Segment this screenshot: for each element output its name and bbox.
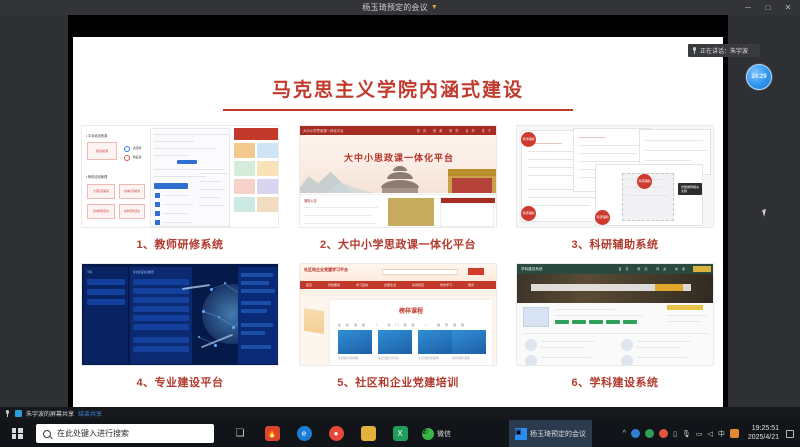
taskbar-apps: ❏ 🔥 e ● X ✆ 微信 ▣ 杨玉琦预定的会议 bbox=[224, 420, 592, 447]
notification-dot-icon[interactable] bbox=[659, 429, 668, 438]
t1-box-4: 校外研修活动 bbox=[120, 209, 144, 213]
t1-section-a: 平台培训资源 bbox=[88, 134, 107, 138]
system-tray: ^ ▯ 🎙 ▭ ◁ 中 19:25:51 2025/4/21 bbox=[623, 420, 800, 447]
slide-title: 马克思主义学院内涵式建设 bbox=[73, 75, 723, 102]
presentation-slide: 马克思主义学院内涵式建设 • 平台培训资源 培训资源 资源库 bbox=[73, 37, 723, 409]
meeting-window: 杨玉琦预定的会议 ▼ ─ □ ✕ 马克思主义学院内涵式建设 • 平台培训资源 培… bbox=[0, 0, 800, 420]
app-icon-meeting[interactable]: ▣ 杨玉琦预定的会议 bbox=[509, 420, 592, 447]
search-placeholder: 在此处键入进行搜索 bbox=[57, 428, 129, 439]
t2-col-left: 通知公告 bbox=[304, 198, 317, 203]
t6-site-name: 学科建设系统 bbox=[521, 267, 543, 272]
meeting-icon: ▣ bbox=[515, 428, 527, 440]
t5-search-input[interactable] bbox=[382, 269, 458, 275]
keyboard-icon[interactable]: ▭ bbox=[696, 430, 703, 438]
grid-item-2: 大中小学思政课一体化平台 首页 资源 研究 合作 关于 bbox=[299, 125, 497, 252]
app-icon-edge[interactable]: e bbox=[288, 420, 320, 447]
edge-icon: e bbox=[297, 426, 312, 441]
mic-tray-icon[interactable]: 🎙 bbox=[682, 430, 691, 438]
t2-site-name: 大中小学思政课一体化平台 bbox=[303, 128, 344, 133]
caption-1: 1、教师研修系统 bbox=[81, 236, 279, 252]
screen-share-status-bar: 朱宇波的屏幕共享 结束共享 bbox=[0, 407, 800, 420]
t1-box-2: 校本培训资源 bbox=[120, 189, 144, 193]
clock[interactable]: 19:25:51 2025/4/21 bbox=[748, 425, 779, 441]
t6-nav: 首页 概况 师资 成果 bbox=[618, 267, 689, 271]
t3-badge-3: 科研辅助 bbox=[595, 210, 610, 225]
start-button[interactable] bbox=[0, 420, 34, 447]
minimize-button[interactable]: ─ bbox=[738, 0, 758, 15]
grid-item-4: 学科 专业建设知识图谱 bbox=[81, 263, 279, 390]
flag-illustration bbox=[304, 308, 324, 334]
thumbnail-ideology-platform[interactable]: 大中小学思政课一体化平台 首页 资源 研究 合作 关于 bbox=[299, 125, 497, 228]
maximize-button[interactable]: □ bbox=[758, 0, 778, 15]
t3-badge-2: 科研辅助 bbox=[521, 206, 536, 221]
thumbnail-grid: • 平台培训资源 培训资源 资源库 精品课 • 研修活动管理 全国培训资源 bbox=[79, 125, 717, 403]
t5-site-name: 社区和企业党建学习平台 bbox=[304, 267, 348, 273]
app-tray-icon[interactable] bbox=[730, 429, 739, 438]
app-icon-firefox[interactable]: 🔥 bbox=[256, 420, 288, 447]
close-button[interactable]: ✕ bbox=[778, 0, 798, 15]
search-icon bbox=[43, 430, 51, 438]
wechat-icon: ✆ bbox=[422, 428, 434, 440]
clock-time: 19:25:51 bbox=[748, 425, 779, 433]
share-status-text: 朱宇波的屏幕共享 bbox=[26, 409, 74, 418]
battery-icon[interactable]: ▯ bbox=[673, 430, 677, 438]
caption-4: 4、专业建设平台 bbox=[81, 374, 279, 390]
ime-icon[interactable]: 中 bbox=[718, 429, 725, 439]
stop-share-link[interactable]: 结束共享 bbox=[78, 409, 102, 418]
title-underline bbox=[223, 109, 573, 111]
excel-icon: X bbox=[393, 426, 408, 441]
window-controls: ─ □ ✕ bbox=[738, 0, 798, 15]
shared-screen-stage: 马克思主义学院内涵式建设 • 平台培训资源 培训资源 资源库 bbox=[68, 15, 728, 411]
microphone-icon[interactable] bbox=[4, 410, 11, 417]
t1-box-3: 校内研修活动 bbox=[88, 209, 114, 213]
chevron-down-icon[interactable]: ▼ bbox=[431, 4, 438, 11]
grid-item-5: 社区和企业党建学习平台 首页 党建要闻 学习园地 支部生活 先锋模范 党史学习 … bbox=[299, 263, 497, 390]
meeting-label: 杨玉琦预定的会议 bbox=[530, 429, 586, 439]
network-icon[interactable] bbox=[631, 429, 640, 438]
t3-badge-1: 科研辅助 bbox=[521, 132, 536, 147]
t2-hero-text: 大中小思政课一体化平台 bbox=[300, 151, 497, 164]
grid-item-6: 学科建设系统 首页 概况 师资 成果 bbox=[516, 263, 714, 390]
t4-col-title: 学科 bbox=[87, 270, 92, 274]
mouse-cursor bbox=[762, 208, 771, 217]
microphone-icon bbox=[692, 47, 697, 54]
app-icon-chrome[interactable]: ● bbox=[320, 420, 352, 447]
caption-3: 3、科研辅助系统 bbox=[516, 236, 714, 252]
show-desktop-button[interactable] bbox=[784, 420, 796, 447]
t5-search-button[interactable] bbox=[468, 268, 484, 275]
t1-tag-a: 培训资源 bbox=[88, 149, 116, 153]
t5-hero: 榜样课程 bbox=[330, 306, 492, 315]
windows-taskbar: 在此处键入进行搜索 ❏ 🔥 e ● X ✆ 微信 ▣ 杨玉琦预定的会议 ^ bbox=[0, 420, 800, 447]
clock-date: 2025/4/21 bbox=[748, 434, 779, 442]
camera-icon[interactable] bbox=[15, 410, 22, 417]
app-icon-wechat[interactable]: ✆ 微信 bbox=[416, 420, 457, 447]
app-icon-excel[interactable]: X bbox=[384, 420, 416, 447]
volume-icon[interactable]: ◁ bbox=[707, 430, 712, 438]
wechat-label: 微信 bbox=[437, 429, 451, 439]
t5-nav: 首页 党建要闻 学习园地 支部生活 先锋模范 党史学习 服务 bbox=[300, 281, 497, 289]
t6-action-button[interactable] bbox=[693, 266, 711, 272]
t1-section-b: 研修活动管理 bbox=[88, 175, 107, 179]
grid-item-3: 智能推荐相关文献 科研辅助 科研辅助 科研辅助 科研辅助 3、科研辅助系统 bbox=[516, 125, 714, 252]
caption-2: 2、大中小学思政课一体化平台 bbox=[299, 236, 497, 252]
search-input[interactable]: 在此处键入进行搜索 bbox=[36, 424, 214, 443]
app-icon-file-explorer[interactable] bbox=[352, 420, 384, 447]
caption-5: 5、社区和企业党建培训 bbox=[299, 374, 497, 390]
chrome-icon: ● bbox=[329, 426, 344, 441]
thumbnail-party-training[interactable]: 社区和企业党建学习平台 首页 党建要闻 学习园地 支部生活 先锋模范 党史学习 … bbox=[299, 263, 497, 366]
avatar[interactable]: 24:29 bbox=[746, 64, 772, 90]
thumbnail-research-support[interactable]: 智能推荐相关文献 科研辅助 科研辅助 科研辅助 科研辅助 bbox=[516, 125, 714, 228]
caption-6: 6、学科建设系统 bbox=[516, 374, 714, 390]
thumbnail-teacher-training[interactable]: • 平台培训资源 培训资源 资源库 精品课 • 研修活动管理 全国培训资源 bbox=[81, 125, 279, 228]
t4-list-title: 专业建设知识图谱 bbox=[133, 270, 154, 274]
t3-badge-4: 科研辅助 bbox=[637, 174, 652, 189]
firefox-icon: 🔥 bbox=[265, 426, 280, 441]
gate-illustration bbox=[448, 169, 496, 193]
task-view-icon: ❏ bbox=[236, 428, 245, 439]
thumbnail-discipline-system[interactable]: 学科建设系统 首页 概况 师资 成果 bbox=[516, 263, 714, 366]
task-view-button[interactable]: ❏ bbox=[224, 420, 256, 447]
temple-illustration bbox=[378, 163, 422, 193]
show-desktop-icon bbox=[786, 430, 794, 438]
t2-nav: 首页 资源 研究 合作 关于 bbox=[417, 128, 494, 133]
window-titlebar: 杨玉琦预定的会议 ▼ ─ □ ✕ bbox=[0, 0, 800, 15]
window-title: 杨玉琦预定的会议 bbox=[362, 2, 428, 13]
windows-logo-icon bbox=[12, 428, 23, 439]
t5-tabs[interactable]: 最新课程 / 热门课程 / 推荐课程 bbox=[338, 323, 469, 327]
t3-tooltip: 智能推荐相关文献 bbox=[678, 183, 702, 195]
folder-icon bbox=[361, 426, 376, 441]
t1-box-1: 全国培训资源 bbox=[88, 189, 114, 193]
thumbnail-major-platform[interactable]: 学科 专业建设知识图谱 bbox=[81, 263, 279, 366]
grid-item-1: • 平台培训资源 培训资源 资源库 精品课 • 研修活动管理 全国培训资源 bbox=[81, 125, 279, 252]
chevron-up-icon[interactable]: ^ bbox=[623, 430, 626, 437]
cloud-sync-icon[interactable] bbox=[645, 429, 654, 438]
active-speaker-banner: 正在讲话：朱宇波 bbox=[688, 44, 760, 57]
active-speaker-label: 正在讲话：朱宇波 bbox=[700, 46, 748, 55]
